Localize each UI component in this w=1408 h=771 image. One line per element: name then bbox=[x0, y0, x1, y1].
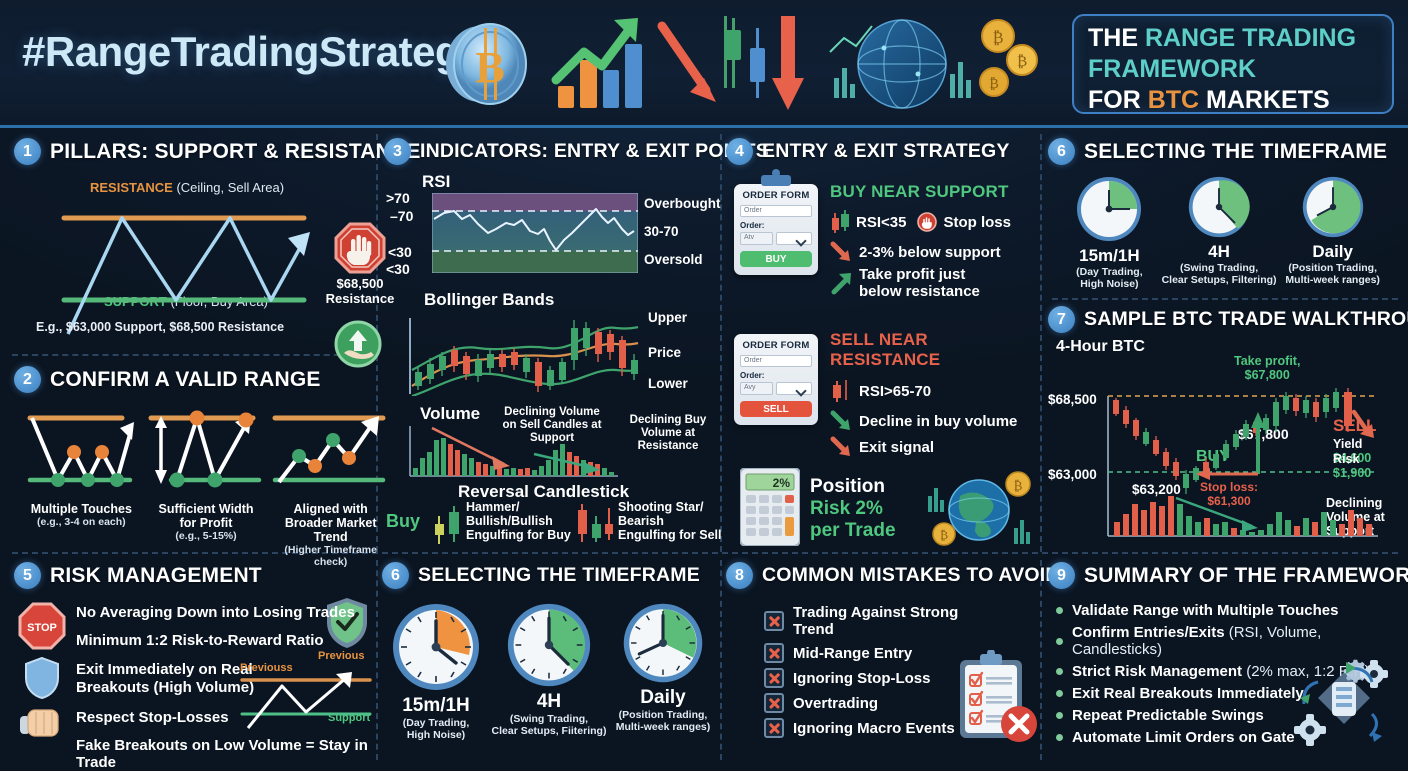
timeframe-top-2-name: Daily bbox=[1277, 242, 1388, 262]
risk-item-3: Exit Immediately on Real Breakouts (High… bbox=[76, 661, 266, 697]
position-line1: Position bbox=[810, 476, 896, 498]
mistake-label-4: Overtrading bbox=[793, 695, 878, 712]
header-icon-strip: B bbox=[432, 8, 1052, 120]
candle-pair-icon bbox=[830, 209, 850, 235]
buy-order-form[interactable]: ORDER FORM Order Order: Atv BUY bbox=[734, 184, 818, 275]
stop-sign-icon: STOP bbox=[18, 602, 66, 650]
bollinger-label-lower: Lower bbox=[648, 376, 688, 391]
bearish-candles-icon bbox=[574, 502, 616, 544]
y-axis-bottom: $63,000 bbox=[1048, 467, 1097, 482]
section-summary: 9 SUMMARY OF THE FRAMEWORK Validate Rang… bbox=[1048, 562, 1400, 758]
x-mark-icon bbox=[764, 611, 784, 631]
svg-text:STOP: STOP bbox=[27, 622, 57, 634]
timeframe-bot-1: 4H (Swing Trading, Clear Setups, Fiiteri… bbox=[490, 601, 608, 741]
shield-icon bbox=[24, 656, 60, 700]
range-example-1-caption: Multiple Touches bbox=[22, 502, 141, 516]
risk-item-2-row: Minimum 1:2 Risk-to-Reward Ratio bbox=[76, 632, 324, 649]
timeframe-top-0: 15m/1H (Day Trading, High Noise) bbox=[1058, 174, 1161, 290]
rsi-chart: RSI >70 –70 <30 <30 bbox=[382, 172, 718, 287]
rsi-axis-0: >70 bbox=[386, 190, 410, 206]
coins-icon: ₿ ₿ ₿ bbox=[980, 20, 1037, 96]
summary-bold-6: Automate Limit Orders on Gate bbox=[1072, 729, 1295, 746]
sell-dropdown[interactable] bbox=[776, 382, 812, 395]
sell-order-form[interactable]: ORDER FORM Order Order: Avy SELL bbox=[734, 334, 818, 425]
section-1-badge: 1 bbox=[14, 138, 41, 165]
rsi-axis-1: –70 bbox=[390, 208, 413, 224]
section-timeframe-bottom: 6 SELECTING THE TIMEFRAME bbox=[382, 562, 718, 758]
rsi-label-range: 30-70 bbox=[644, 224, 679, 239]
clock-icon-4h bbox=[1186, 174, 1252, 240]
prev-right-label: Previous bbox=[318, 650, 364, 662]
support-resistance-chart: RESISTANCE (Ceiling, Sell Area) SUPPORT … bbox=[26, 180, 386, 340]
sections-grid: 1 PILLARS: SUPPORT & RESISTANCE RESISTAN… bbox=[0, 128, 1408, 768]
divider-v3 bbox=[1040, 134, 1042, 552]
timeframe-bot-0-name: 15m/1H bbox=[382, 695, 490, 717]
stop-hand-icon bbox=[334, 222, 386, 274]
bollinger-label-upper: Upper bbox=[648, 310, 687, 325]
timeframe-clocks-bottom: 15m/1H (Day Trading, High Noise) bbox=[382, 601, 718, 741]
x-mark-icon bbox=[764, 668, 784, 688]
mistake-label-2: Mid-Range Entry bbox=[793, 645, 912, 662]
sell-qty-input[interactable]: Avy bbox=[740, 382, 773, 395]
timeframe-top-1: 4H (Swing Trading, Clear Setups, Filteri… bbox=[1161, 174, 1278, 290]
infographic-page: #RangeTradingStrategy B bbox=[0, 0, 1408, 768]
timeframe-top-2: Daily (Position Trading, Multi-week rang… bbox=[1277, 174, 1388, 290]
section-risk-management: 5 RISK MANAGEMENT STOP bbox=[14, 562, 374, 758]
range-example-3: Aligned with Broader Market Trend (Highe… bbox=[271, 408, 390, 568]
section-valid-range: 2 CONFIRM A VALID RANGE Multiple Touches bbox=[14, 366, 374, 546]
summary-bold-4: Exit Real Breakouts Immediately bbox=[1072, 685, 1304, 702]
y-axis-top: $68,500 bbox=[1048, 392, 1097, 407]
summary-item-2: Confirm Entries/Exits (RSI, Volume, Cand… bbox=[1056, 624, 1400, 658]
risk-item-5-row: Fake Breakouts on Low Volume = Stay in T… bbox=[76, 737, 374, 771]
risk-item-1: No Averaging Down into Losing Trades bbox=[76, 604, 372, 621]
section-4-title: ENTRY & EXIT STRATEGY bbox=[762, 140, 1010, 163]
summary-bold-2: Confirm Entries/Exits bbox=[1072, 624, 1225, 641]
bollinger-chart: Bollinger Bands bbox=[382, 290, 718, 402]
sell-order-label: Order: bbox=[740, 371, 812, 380]
buy-item-take-profit: Take profit just below resistance bbox=[859, 266, 980, 300]
buy-qty-input[interactable]: Atv bbox=[740, 232, 773, 245]
resistance-label: RESISTANCE (Ceiling, Sell Area) bbox=[90, 180, 284, 195]
buy-heading: BUY NEAR SUPPORT bbox=[830, 182, 1038, 202]
divider-h2 bbox=[1052, 298, 1398, 300]
timeframe-bot-2-sub: (Position Trading, Multi-week ranges) bbox=[608, 709, 718, 733]
timeframe-bot-2: Daily (Position Trading, Multi-week rang… bbox=[608, 601, 718, 741]
breakout-mini-chart: Previouss Previous Support bbox=[240, 654, 374, 730]
title-line-2: FRAMEWORK bbox=[1088, 54, 1378, 85]
section-4-badge: 4 bbox=[726, 138, 753, 165]
calculator-icon: 2% bbox=[740, 468, 800, 551]
clock-icon-4h-bottom bbox=[505, 601, 593, 689]
svg-text:₿: ₿ bbox=[1017, 54, 1027, 70]
section-2-title: CONFIRM A VALID RANGE bbox=[50, 368, 321, 392]
section-6top-title: SELECTING THE TIMEFRAME bbox=[1084, 140, 1387, 164]
rsi-label-overbought: Overbought bbox=[644, 196, 721, 211]
buy-dropdown[interactable] bbox=[776, 232, 812, 245]
svg-text:₿: ₿ bbox=[992, 29, 1003, 47]
section-4-header: 4 ENTRY & EXIT STRATEGY bbox=[726, 138, 1038, 165]
mistake-label-1: Trading Against Strong Trend bbox=[793, 604, 994, 638]
svg-text:₿: ₿ bbox=[1014, 478, 1023, 493]
page-header: #RangeTradingStrategy B bbox=[0, 0, 1408, 128]
up-arrow-icon bbox=[830, 270, 854, 296]
risk-item-4-row: Respect Stop-Losses bbox=[76, 709, 229, 726]
section-6top-header: 6 SELECTING THE TIMEFRAME bbox=[1048, 138, 1398, 165]
risk-item-4: Respect Stop-Losses bbox=[76, 709, 229, 726]
risk-item-1-row: No Averaging Down into Losing Trades bbox=[76, 604, 372, 621]
clock-icon-15m bbox=[1074, 174, 1144, 244]
section-3-header: 3 INDICATORS: ENTRY & EXIT POINTS bbox=[384, 138, 718, 165]
bullet-dot-icon bbox=[1056, 638, 1063, 645]
timeframe-clocks-top: 15m/1H (Day Trading, High Noise) 4H (Swi… bbox=[1048, 174, 1398, 290]
section-1-header: 1 PILLARS: SUPPORT & RESISTANCE bbox=[14, 138, 374, 165]
title-line-1: THE RANGE TRADING bbox=[1088, 23, 1378, 54]
mistake-label-3: Ignoring Stop-Loss bbox=[793, 670, 930, 687]
buy-near-support-block: BUY NEAR SUPPORT RSI<35 Stop loss bbox=[830, 182, 1038, 300]
section-trade-walkthrough: 7 SAMPLE BTC TRADE WALKTHROUGH 4-Hour BT… bbox=[1048, 306, 1400, 548]
rsi-axis-3: <30 bbox=[386, 261, 410, 277]
section-2-header: 2 CONFIRM A VALID RANGE bbox=[14, 366, 374, 393]
section-1-title: PILLARS: SUPPORT & RESISTANCE bbox=[50, 140, 421, 164]
x-mark-icon bbox=[764, 693, 784, 713]
rsi-label-oversold: Oversold bbox=[644, 252, 703, 267]
btc-trade-chart: $68,500 $63,000 Take profit, $67,800 $67… bbox=[1048, 354, 1400, 550]
bearish-candle-icon bbox=[830, 378, 852, 404]
clock-icon-daily bbox=[1300, 174, 1366, 240]
exit-arrow-icon bbox=[830, 436, 854, 458]
section-2-badge: 2 bbox=[14, 366, 41, 393]
rsi-title: RSI bbox=[422, 172, 450, 192]
globe-coins-icon: ₿ ₿ bbox=[924, 466, 1034, 555]
section-8-badge: 8 bbox=[726, 562, 753, 589]
bearish-candle-text: Shooting Star/ Bearish Engulfing for Sel… bbox=[618, 500, 722, 542]
section-5-badge: 5 bbox=[14, 562, 41, 589]
timeframe-bot-0: 15m/1H (Day Trading, High Noise) bbox=[382, 601, 490, 741]
sell-heading: SELL NEAR RESISTANCE bbox=[830, 330, 1038, 370]
x-mark-icon bbox=[764, 643, 784, 663]
section-8-header: 8 COMMON MISTAKES TO AVOID bbox=[726, 562, 1038, 589]
bullet-dot-icon bbox=[1056, 690, 1063, 697]
position-line2: Risk 2% bbox=[810, 498, 896, 520]
svg-text:₿: ₿ bbox=[989, 76, 999, 92]
summary-label-5: Repeat Predictable Swings bbox=[1072, 707, 1264, 724]
summary-item-1: Validate Range with Multiple Touches bbox=[1056, 602, 1400, 619]
svg-text:₿: ₿ bbox=[940, 528, 948, 542]
stop-loss-icon bbox=[917, 212, 937, 232]
framework-title-box: THE RANGE TRADING FRAMEWORK FOR BTC MARK… bbox=[1072, 14, 1394, 114]
volume-title: Volume bbox=[420, 404, 480, 424]
section-indicators: 3 INDICATORS: ENTRY & EXIT POINTS RSI >7… bbox=[382, 138, 718, 548]
svg-text:2%: 2% bbox=[773, 476, 791, 490]
valid-range-examples: Multiple Touches (e.g., 3-4 on each) bbox=[22, 408, 390, 568]
summary-bold-5: Repeat Predictable Swings bbox=[1072, 707, 1264, 724]
divider-v6 bbox=[1040, 560, 1042, 760]
sell-order-input[interactable]: Order bbox=[740, 355, 812, 367]
timeframe-top-2-sub: (Position Trading, Multi-week ranges) bbox=[1277, 262, 1388, 286]
bullet-dot-icon bbox=[1056, 607, 1063, 614]
timeframe-top-0-name: 15m/1H bbox=[1058, 246, 1161, 266]
section-5-header: 5 RISK MANAGEMENT bbox=[14, 562, 374, 589]
section-9-header: 9 SUMMARY OF THE FRAMEWORK bbox=[1048, 562, 1400, 589]
hand-up-arrow-icon bbox=[334, 320, 382, 368]
automation-gears-icon bbox=[1288, 658, 1400, 750]
risk-item-5: Fake Breakouts on Low Volume = Stay in T… bbox=[76, 737, 374, 771]
summary-label-6: Automate Limit Orders on Gate bbox=[1072, 729, 1295, 746]
timeframe-top-0-sub: (Day Trading, High Noise) bbox=[1058, 266, 1161, 290]
section-3-badge: 3 bbox=[384, 138, 411, 165]
summary-bold-1: Validate Range with Multiple Touches bbox=[1072, 602, 1338, 619]
reversal-candlestick-block: Reversal Candlestick Buy Hammer/ Bullish… bbox=[382, 482, 718, 546]
summary-label-4: Exit Real Breakouts Immediately bbox=[1072, 685, 1304, 702]
section-7-badge: 7 bbox=[1048, 306, 1075, 333]
volume-note-right: Declining Buy Volume at Resistance bbox=[618, 414, 718, 453]
section-timeframe-top: 6 SELECTING THE TIMEFRAME 15m/1H (Day Tr… bbox=[1048, 138, 1398, 292]
buy-form-title: ORDER FORM bbox=[740, 190, 812, 201]
bullet-dot-icon bbox=[1056, 668, 1063, 675]
hashtag-title: #RangeTradingStrategy bbox=[22, 28, 483, 76]
bullish-candle-text: Hammer/ Bullish/Bullish Engulfing for Bu… bbox=[466, 500, 576, 542]
buy-item-rsi: RSI<35 bbox=[856, 214, 906, 231]
bar-chart-up-icon bbox=[556, 18, 642, 108]
position-line3: per Trade bbox=[810, 520, 896, 542]
timeframe-bot-2-name: Daily bbox=[608, 687, 718, 709]
section-5-title: RISK MANAGEMENT bbox=[50, 564, 262, 588]
section-6top-badge: 6 bbox=[1048, 138, 1075, 165]
mistake-label-5: Ignoring Macro Events bbox=[793, 720, 955, 737]
fist-icon bbox=[18, 704, 64, 744]
divider-v5 bbox=[720, 560, 722, 760]
sell-item-exit: Exit signal bbox=[859, 439, 934, 456]
risk-item-2: Minimum 1:2 Risk-to-Reward Ratio bbox=[76, 632, 324, 649]
range-example-1-sub: (e.g., 3-4 on each) bbox=[22, 516, 141, 528]
bollinger-label-price: Price bbox=[648, 345, 681, 360]
buy-word: Buy bbox=[386, 511, 420, 532]
buy-order-label: Order: bbox=[740, 221, 812, 230]
clipboard-clip-icon bbox=[761, 175, 791, 186]
section-common-mistakes: 8 COMMON MISTAKES TO AVOID Trading Again… bbox=[726, 562, 1038, 758]
down-arrow-icon bbox=[830, 241, 854, 263]
bullish-candles-icon bbox=[430, 504, 464, 546]
summary-bold-3: Strict Risk Management bbox=[1072, 663, 1242, 680]
range-example-3-caption: Aligned with Broader Market Trend bbox=[271, 502, 390, 544]
section-6bot-header: 6 SELECTING THE TIMEFRAME bbox=[382, 562, 718, 589]
sell-item-rsi: RSI>65-70 bbox=[859, 383, 931, 400]
sell-submit-button[interactable]: SELL bbox=[740, 401, 812, 417]
bitcoin-coin-icon: B bbox=[446, 24, 526, 104]
section-8-title: COMMON MISTAKES TO AVOID bbox=[762, 564, 1060, 587]
risk-item-3-row: Exit Immediately on Real Breakouts (High… bbox=[76, 661, 266, 697]
sell-form-title: ORDER FORM bbox=[740, 340, 812, 351]
range-example-2-sub: (e.g., 5-15%) bbox=[147, 530, 266, 542]
timeframe-bot-0-sub: (Day Trading, High Noise) bbox=[382, 717, 490, 741]
volume-chart: Volume Declining Volume on Sell Candles … bbox=[382, 404, 718, 484]
section-pillars: 1 PILLARS: SUPPORT & RESISTANCE RESISTAN… bbox=[14, 138, 374, 350]
svg-text:B: B bbox=[475, 43, 504, 92]
buy-item-stoploss: Stop loss bbox=[943, 214, 1011, 231]
timeframe-bot-1-name: 4H bbox=[490, 691, 608, 713]
clock-icon-15m-bottom bbox=[390, 601, 482, 693]
example-text: E.g., $63,000 Support, $68,500 Resistanc… bbox=[36, 320, 284, 334]
section-9-title: SUMMARY OF THE FRAMEWORK bbox=[1084, 564, 1408, 588]
sell-item-volume: Decline in buy volume bbox=[859, 413, 1017, 430]
section-6bot-title: SELECTING THE TIMEFRAME bbox=[418, 564, 700, 587]
x-mark-icon bbox=[764, 718, 784, 738]
rsi-axis-2: <30 bbox=[388, 244, 412, 260]
summary-label-2: Confirm Entries/Exits (RSI, Volume, Cand… bbox=[1072, 624, 1400, 658]
section-7-header: 7 SAMPLE BTC TRADE WALKTHROUGH bbox=[1048, 306, 1400, 333]
timeframe-top-1-sub: (Swing Trading, Clear Setups, Filtering) bbox=[1161, 262, 1278, 286]
reversal-title: Reversal Candlestick bbox=[458, 482, 629, 502]
range-example-2: Sufficient Width for Profit (e.g., 5-15%… bbox=[147, 408, 266, 568]
buy-order-input[interactable]: Order bbox=[740, 205, 812, 217]
clock-icon-daily-bottom bbox=[621, 601, 705, 685]
timeframe-top-1-name: 4H bbox=[1161, 242, 1278, 262]
section-3-title: INDICATORS: ENTRY & EXIT POINTS bbox=[420, 140, 769, 163]
globe-network-icon bbox=[830, 20, 971, 108]
clipboard-checklist-icon bbox=[952, 650, 1040, 746]
decline-arrow-icon bbox=[830, 410, 854, 432]
section-9-badge: 9 bbox=[1048, 562, 1075, 589]
section-entry-exit: 4 ENTRY & EXIT STRATEGY ORDER FORM Order… bbox=[726, 138, 1038, 548]
bullet-dot-icon bbox=[1056, 734, 1063, 741]
summary-label-1: Validate Range with Multiple Touches bbox=[1072, 602, 1338, 619]
bollinger-title: Bollinger Bands bbox=[424, 290, 554, 310]
bullet-dot-icon bbox=[1056, 712, 1063, 719]
buy-submit-button[interactable]: BUY bbox=[740, 251, 812, 267]
section-7-title: SAMPLE BTC TRADE WALKTHROUGH bbox=[1084, 308, 1408, 331]
red-x-circle-icon bbox=[1001, 706, 1037, 742]
down-arrow-candles-icon bbox=[662, 16, 804, 110]
buy-item-below-support: 2-3% below support bbox=[859, 244, 1001, 261]
mistake-item-1: Trading Against Strong Trend bbox=[764, 604, 994, 638]
position-risk-text: Position Risk 2% per Trade bbox=[810, 476, 896, 542]
divider-h1 bbox=[12, 354, 370, 356]
timeframe-bot-1-sub: (Swing Trading, Clear Setups, Fiitering) bbox=[490, 713, 608, 737]
divider-v4 bbox=[376, 560, 378, 760]
sell-near-resistance-block: SELL NEAR RESISTANCE RSI>65-70 Decline i… bbox=[830, 330, 1038, 458]
title-line-3: FOR BTC MARKETS bbox=[1088, 85, 1378, 116]
range-example-1: Multiple Touches (e.g., 3-4 on each) bbox=[22, 408, 141, 568]
section-6bot-badge: 6 bbox=[382, 562, 409, 589]
range-example-2-caption: Sufficient Width for Profit bbox=[147, 502, 266, 530]
